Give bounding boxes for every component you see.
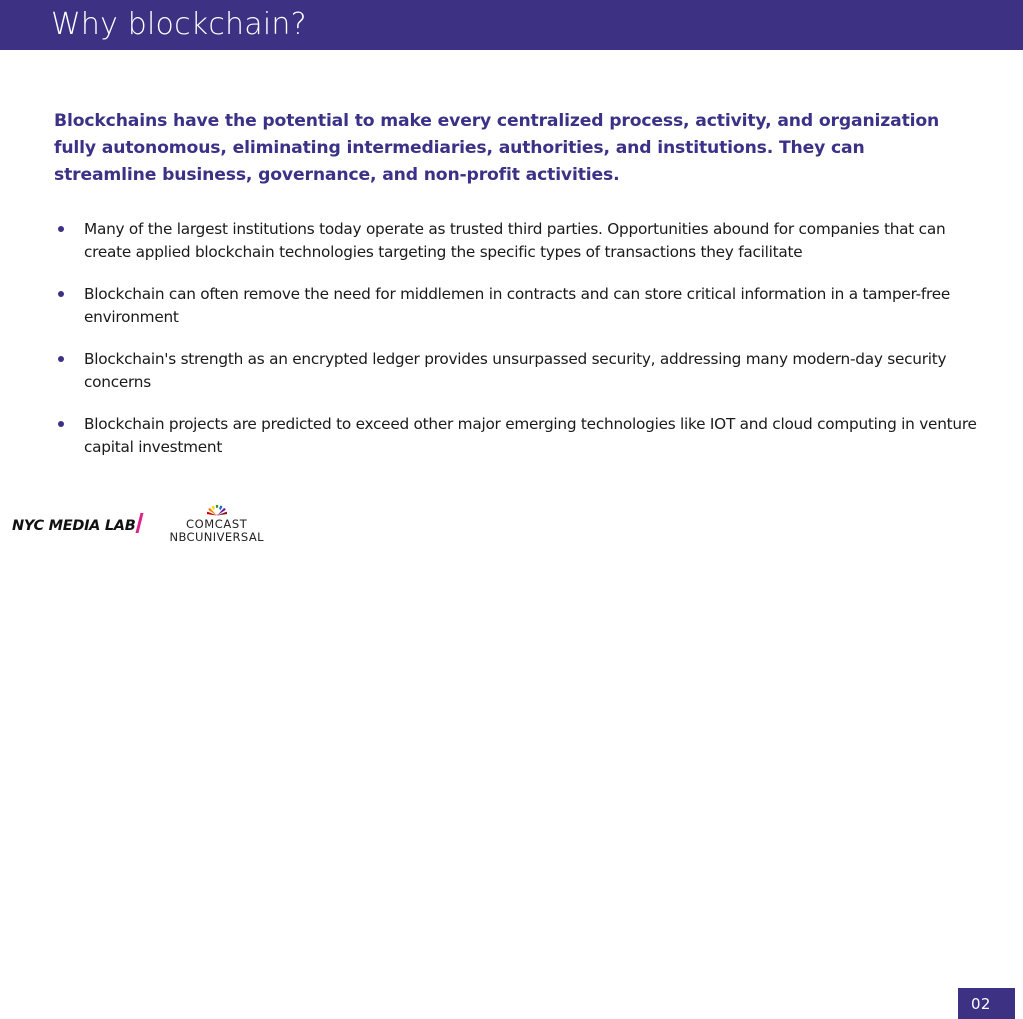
lead-statement: Blockchains have the potential to make e… bbox=[54, 108, 972, 189]
list-item: Many of the largest institutions today o… bbox=[54, 218, 984, 263]
list-item: Blockchain's strength as an encrypted le… bbox=[54, 348, 984, 393]
footer-logos: NYC MEDIA LAB COMCAST NBCUNIVERSAL bbox=[12, 501, 264, 543]
nyc-media-lab-logo: NYC MEDIA LAB bbox=[12, 510, 141, 534]
list-item: Blockchain projects are predicted to exc… bbox=[54, 413, 984, 458]
comcast-nbcuniversal-logo: COMCAST NBCUNIVERSAL bbox=[169, 501, 263, 543]
comcast-wordmark: COMCAST bbox=[169, 518, 263, 531]
list-item-text: Many of the largest institutions today o… bbox=[84, 220, 945, 261]
slide-header-band: Why blockchain? bbox=[0, 0, 1023, 50]
bullet-dot-icon bbox=[58, 291, 64, 297]
bullet-dot-icon bbox=[58, 226, 64, 232]
bullet-dot-icon bbox=[58, 421, 64, 427]
bullet-dot-icon bbox=[58, 356, 64, 362]
key-points-list: Many of the largest institutions today o… bbox=[54, 218, 984, 458]
slide-footer: NYC MEDIA LAB COMCAST NBCUNIVERSAL 02 bbox=[0, 490, 1023, 556]
page-number-badge: 02 bbox=[958, 988, 1015, 1019]
list-item-text: Blockchain can often remove the need for… bbox=[84, 285, 950, 326]
nbc-peacock-icon bbox=[207, 501, 227, 516]
list-item-text: Blockchain projects are predicted to exc… bbox=[84, 415, 977, 456]
slide-content: Blockchains have the potential to make e… bbox=[0, 50, 1023, 490]
nbcuniversal-wordmark: NBCUNIVERSAL bbox=[169, 531, 263, 544]
list-item-text: Blockchain's strength as an encrypted le… bbox=[84, 350, 946, 391]
nyc-media-lab-wordmark: NYC MEDIA LAB bbox=[12, 518, 135, 534]
list-item: Blockchain can often remove the need for… bbox=[54, 283, 984, 328]
page-title: Why blockchain? bbox=[51, 6, 307, 44]
slash-icon bbox=[136, 513, 144, 533]
